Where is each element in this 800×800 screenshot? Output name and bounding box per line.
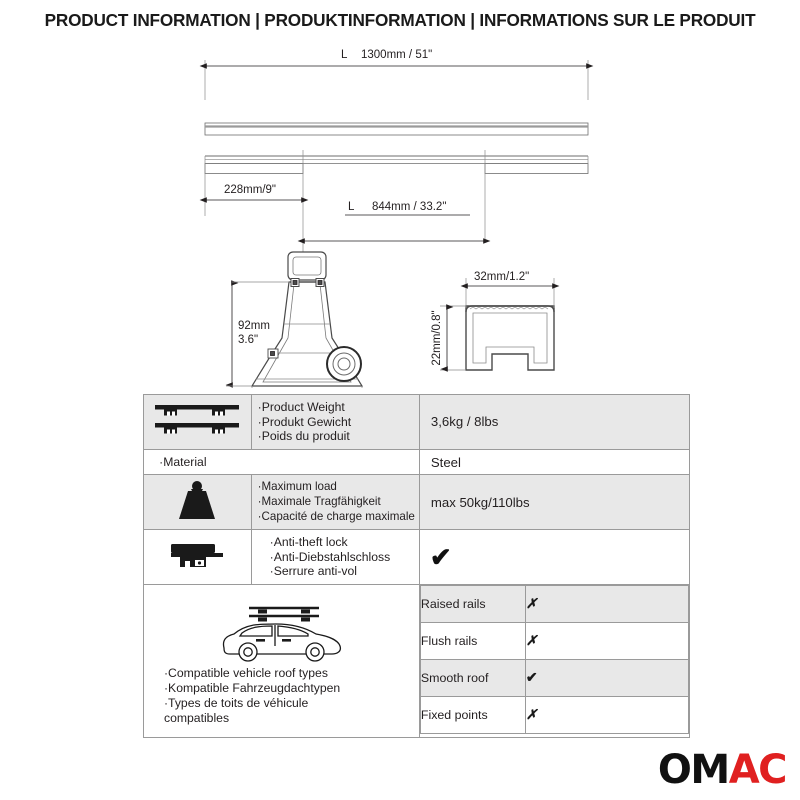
profile-width-value: 32mm/1.2" (474, 271, 529, 283)
table-row: ·Material Steel (144, 449, 690, 475)
compat-option-name: Raised rails (420, 585, 525, 622)
compatibility-row: Fixed points ✗ (420, 696, 688, 733)
page-title: PRODUCT INFORMATION | PRODUKTINFORMATION… (45, 10, 756, 31)
table-row: ·Anti-theft lock ·Anti-Diebstahlschloss … (144, 530, 690, 585)
lock-value-cell: ✔ (419, 530, 689, 585)
compat-option-mark: ✔ (525, 659, 688, 696)
overall-length-value: 1300mm / 51" (361, 49, 432, 61)
material-label-cell: ·Material (251, 449, 419, 475)
label-line: ·Maximum load (258, 480, 415, 495)
compat-option-name: Fixed points (420, 696, 525, 733)
label-line: ·Product Weight (258, 400, 415, 415)
foot-height-line2: 3.6" (238, 334, 258, 346)
table-row: ·Compatible vehicle roof types ·Kompatib… (144, 584, 690, 737)
end-offset-value: 228mm/9" (224, 184, 276, 196)
label-line: ·Compatible vehicle roof types (164, 666, 419, 681)
compatibility-labels: ·Compatible vehicle roof types ·Kompatib… (144, 664, 419, 725)
profile-height-value: 22mm/0.8" (431, 310, 443, 365)
material-value-cell: Steel (419, 449, 689, 475)
overall-length-symbol: L (341, 49, 348, 61)
label-line: ·Anti-theft lock (270, 535, 415, 550)
compatibility-row: Flush rails ✗ (420, 622, 688, 659)
table-row: ·Maximum load ·Maximale Tragfähigkeit ·C… (144, 475, 690, 530)
label-line: ·Produkt Gewicht (258, 415, 415, 430)
weight-icon (171, 510, 223, 527)
page-header: PRODUCT INFORMATION | PRODUKTINFORMATION… (0, 0, 800, 40)
compatibility-row: Raised rails ✗ (420, 585, 688, 622)
compat-option-name: Smooth roof (420, 659, 525, 696)
two-crossbars-icon (152, 426, 242, 443)
compat-option-mark: ✗ (525, 696, 688, 733)
max-load-value: max 50kg/110lbs (420, 495, 689, 510)
label-line: ·Poids du produit (258, 429, 415, 444)
anti-theft-checkmark: ✔ (420, 544, 689, 570)
lock-icon-cell (144, 530, 252, 585)
product-weight-label-cell: ·Product Weight ·Produkt Gewicht ·Poids … (251, 395, 419, 450)
max-load-icon-cell (144, 475, 252, 530)
technical-drawing: L 1300mm / 51" 228mm/9" L 844mm / 33.2" … (0, 38, 800, 388)
material-value: Steel (420, 455, 689, 470)
compat-option-mark: ✗ (525, 622, 688, 659)
compatibility-row: Smooth roof ✔ (420, 659, 688, 696)
span-length-symbol: L (348, 201, 355, 213)
car-with-rack-icon (144, 602, 419, 664)
label-line: ·Capacité de charge maximale (258, 510, 415, 525)
compat-option-name: Flush rails (420, 622, 525, 659)
foot-height-line1: 92mm (238, 320, 270, 332)
max-load-label-cell: ·Maximum load ·Maximale Tragfähigkeit ·C… (251, 475, 419, 530)
compatibility-subtable: Raised rails ✗ Flush rails ✗ Smooth roof… (420, 585, 689, 734)
omac-logo: OMAC (658, 750, 786, 790)
label-line: ·Serrure anti-vol (270, 564, 415, 579)
label-line: compatibles (164, 711, 419, 726)
product-weight-icon-cell (144, 395, 252, 450)
logo-text-ac: AC (729, 747, 786, 793)
label-line: ·Anti-Diebstahlschloss (270, 550, 415, 565)
specification-table: ·Product Weight ·Produkt Gewicht ·Poids … (143, 394, 690, 738)
max-load-value-cell: max 50kg/110lbs (419, 475, 689, 530)
span-length-value: 844mm / 33.2" (372, 201, 446, 213)
table-row: ·Product Weight ·Produkt Gewicht ·Poids … (144, 395, 690, 450)
lock-icon (166, 559, 228, 576)
compatibility-options-cell: Raised rails ✗ Flush rails ✗ Smooth roof… (419, 584, 689, 737)
lock-label-cell: ·Anti-theft lock ·Anti-Diebstahlschloss … (251, 530, 419, 585)
product-weight-value: 3,6kg / 8lbs (420, 414, 689, 429)
label-line: ·Kompatible Fahrzeugdachtypen (164, 681, 419, 696)
label-line: ·Maximale Tragfähigkeit (258, 495, 415, 510)
label-line: ·Material (159, 455, 415, 470)
logo-text-om: OM (658, 747, 729, 793)
product-weight-value-cell: 3,6kg / 8lbs (419, 395, 689, 450)
compatibility-label-cell: ·Compatible vehicle roof types ·Kompatib… (144, 584, 420, 737)
compat-option-mark: ✗ (525, 585, 688, 622)
label-line: ·Types de toits de véhicule (164, 696, 419, 711)
